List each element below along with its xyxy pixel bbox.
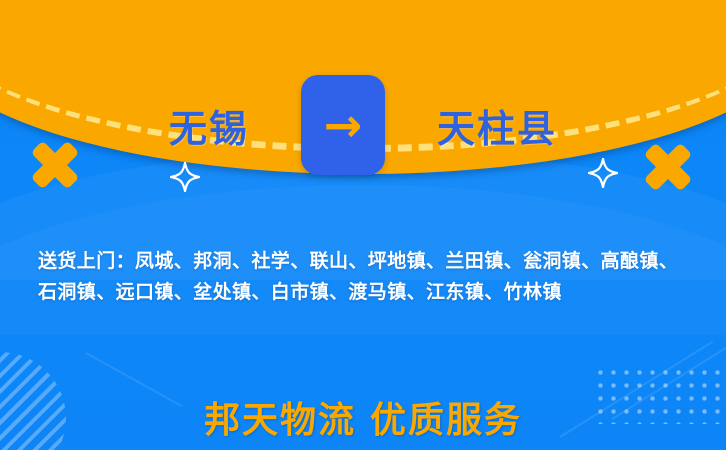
route-header: 无锡 → 天柱县 [0,75,726,175]
origin-city-label: 无锡 [169,98,249,153]
route-arrow-button[interactable]: → [301,75,385,175]
company-name: 邦天物流 [204,399,356,441]
logistics-banner: 无锡 → 天柱县 送货上门：凤城、邦洞、社学、联山、坪地镇、兰田镇、瓮洞镇、高酿… [0,0,726,450]
service-tagline: 优质服务 [370,399,522,441]
delivery-coverage-text: 送货上门：凤城、邦洞、社学、联山、坪地镇、兰田镇、瓮洞镇、高酿镇、石洞镇、远口镇… [38,246,694,308]
destination-city-label: 天柱县 [437,98,557,153]
company-slogan: 邦天物流优质服务 [0,391,726,443]
arrow-right-icon: → [324,102,363,148]
